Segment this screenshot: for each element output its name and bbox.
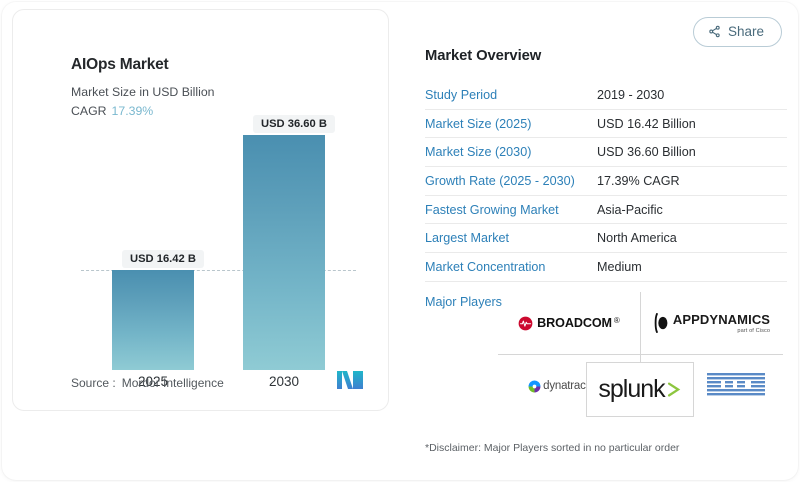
- bar-chart-plot: USD 16.42 B USD 36.60 B 2025 2030: [25, 120, 390, 370]
- chart-card: AIOps Market Market Size in USD Billion …: [12, 9, 389, 411]
- table-row: Growth Rate (2025 - 2030) 17.39% CAGR: [425, 167, 787, 196]
- player-cell-appdynamics: APPDYNAMICS part of Cisco: [641, 292, 783, 354]
- row-value: Medium: [597, 260, 642, 274]
- chart-cagr: CAGR17.39%: [71, 104, 153, 118]
- table-row: Largest Market North America: [425, 224, 787, 253]
- bar-label-2025: USD 16.42 B: [122, 250, 204, 268]
- source-label: Source :: [71, 376, 116, 390]
- broadcom-trademark: ®: [614, 316, 620, 325]
- splunk-logo: splunk: [598, 375, 681, 404]
- row-key: Market Size (2025): [425, 117, 597, 131]
- row-value: 17.39% CAGR: [597, 174, 680, 188]
- appdynamics-label: APPDYNAMICS: [673, 312, 770, 327]
- row-value: Asia-Pacific: [597, 203, 663, 217]
- table-row: Market Concentration Medium: [425, 253, 787, 282]
- player-cell-broadcom: BROADCOM ®: [498, 292, 640, 354]
- row-value: North America: [597, 231, 677, 245]
- chart-cagr-value: 17.39%: [112, 104, 154, 118]
- row-key: Market Size (2030): [425, 145, 597, 159]
- row-key: Study Period: [425, 88, 597, 102]
- appdynamics-logo: APPDYNAMICS part of Cisco: [654, 312, 770, 334]
- row-key: Growth Rate (2025 - 2030): [425, 174, 597, 188]
- table-row: Market Size (2030) USD 36.60 Billion: [425, 138, 787, 167]
- chart-source-row: Source : Mordor Intelligence: [71, 371, 363, 394]
- disclaimer-text: *Disclaimer: Major Players sorted in no …: [425, 442, 679, 454]
- mordor-intelligence-logo: [337, 371, 363, 394]
- row-value: USD 16.42 Billion: [597, 117, 696, 131]
- overview-title: Market Overview: [425, 48, 787, 64]
- share-button[interactable]: Share: [693, 17, 782, 47]
- table-row: Study Period 2019 - 2030: [425, 81, 787, 110]
- screenshot-root: Share AIOps Market Market Size in USD Bi…: [0, 0, 800, 482]
- chart-cagr-label: CAGR: [71, 104, 107, 118]
- market-overview-panel: Market Overview Study Period 2019 - 2030…: [425, 48, 787, 309]
- dynatrace-logo: dynatrace: [528, 380, 592, 393]
- player-cell-splunk: splunk: [586, 362, 694, 417]
- source-name: Mordor Intelligence: [122, 376, 224, 390]
- table-row: Fastest Growing Market Asia-Pacific: [425, 196, 787, 225]
- ibm-logo: IBM: [707, 372, 765, 401]
- chart-title: AIOps Market: [71, 56, 169, 74]
- major-players-grid: BROADCOM ® APPDYNAMICS part of Cisco: [498, 292, 783, 417]
- share-button-label: Share: [728, 25, 764, 39]
- bar-2025[interactable]: [112, 270, 194, 370]
- table-row: Market Size (2025) USD 16.42 Billion: [425, 110, 787, 139]
- row-value: USD 36.60 Billion: [597, 145, 696, 159]
- share-icon: [708, 25, 721, 38]
- splunk-label: splunk: [598, 375, 664, 404]
- broadcom-logo: BROADCOM ®: [518, 316, 620, 331]
- bar-2030[interactable]: [243, 135, 325, 370]
- dynatrace-label: dynatrace: [543, 380, 592, 392]
- broadcom-label: BROADCOM: [537, 316, 612, 330]
- appdynamics-sublabel: part of Cisco: [673, 328, 770, 334]
- row-value: 2019 - 2030: [597, 88, 664, 102]
- row-key: Largest Market: [425, 231, 597, 245]
- row-key: Market Concentration: [425, 260, 597, 274]
- chart-subtitle: Market Size in USD Billion: [71, 85, 215, 99]
- row-key: Fastest Growing Market: [425, 203, 597, 217]
- bar-label-2030: USD 36.60 B: [253, 115, 335, 133]
